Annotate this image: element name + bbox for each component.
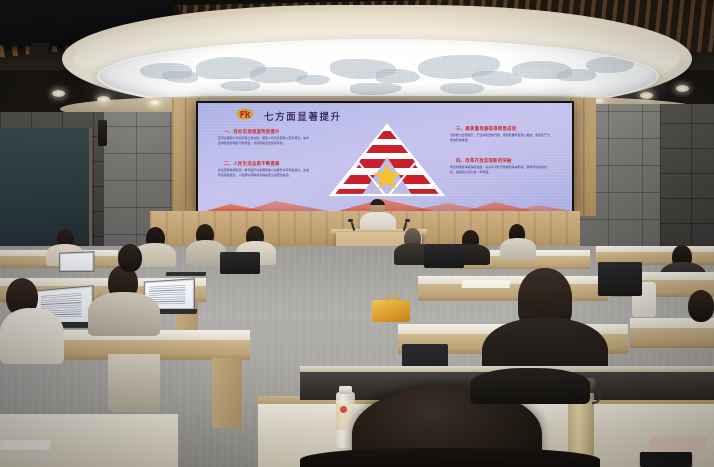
tote-bag-handle xyxy=(386,294,400,302)
paper-stack xyxy=(0,440,51,450)
chair xyxy=(220,252,260,274)
led-presentation-screen: 七方面显著提升 一、目标实现程度明显提升 经济总量和人均水平再上新台阶，居民人均… xyxy=(196,101,574,213)
slide-body-2: 就业形势保持稳定，教育医疗社会保障等公共服务水平明显提高，生态环境持续改善，人民… xyxy=(218,168,312,177)
audience-head xyxy=(688,290,714,322)
slide-body-4: 重点领域改革取得新进展，高水平对外开放格局基本形成，营商环境持续优化，发展动力活… xyxy=(450,165,550,174)
microphone-head-icon xyxy=(348,219,353,222)
lecture-hall-photo: 七方面显著提升 一、目标实现程度明显提升 经济总量和人均水平再上新台阶，居民人均… xyxy=(0,0,714,467)
laptop-screen xyxy=(59,251,95,272)
laptop-display xyxy=(61,253,93,270)
slide-content: 七方面显著提升 一、目标实现程度明显提升 经济总量和人均水平再上新台阶，居民人均… xyxy=(198,103,572,211)
cpc-party-emblem-icon xyxy=(236,108,254,120)
slide-heading-3: 三、高质量发展取得明显成效 xyxy=(456,126,516,132)
foreground-person-shoulder xyxy=(300,448,600,467)
slide-heading-4: 四、改革开放实现新的突破 xyxy=(456,158,512,164)
downlight-icon xyxy=(52,90,65,97)
chair xyxy=(424,244,464,268)
wall-speaker-icon xyxy=(98,120,107,146)
downlight-icon xyxy=(148,99,161,106)
paper-stack xyxy=(461,280,510,288)
foreground-person-2 xyxy=(470,368,590,404)
bottle-label-red-mark xyxy=(340,406,347,413)
slide-title: 七方面显著提升 xyxy=(264,109,342,123)
chair xyxy=(598,262,642,296)
downlight-icon xyxy=(640,92,653,99)
audience-torso xyxy=(500,238,536,260)
smartphone xyxy=(640,452,692,467)
downlight-icon xyxy=(676,85,689,92)
chair xyxy=(108,354,160,412)
desk-front-front-right2 xyxy=(630,328,714,348)
water-bottle-cap xyxy=(339,386,352,394)
desk-leg xyxy=(212,358,242,428)
paper-stack xyxy=(649,436,707,450)
laptop-keyboard xyxy=(166,272,207,276)
slide-body-1: 经济总量和人均水平再上新台阶，居民人均可支配收入稳步增长，城乡区域发展协调性不断… xyxy=(218,136,312,145)
audience-torso xyxy=(0,308,64,364)
slide-heading-2: 二、人民生活品质不断提高 xyxy=(224,161,280,167)
microphone-head-icon xyxy=(405,219,410,222)
projector-mount xyxy=(28,43,49,55)
audience-head xyxy=(118,244,142,272)
slide-body-3: 创新能力显著提升，产业体系加快升级，绿色低碳转型深入推进，新质生产力加快形成发展… xyxy=(450,133,550,142)
audience-torso xyxy=(88,292,160,336)
dark-glass-door xyxy=(0,128,92,246)
downlight-icon xyxy=(97,96,110,103)
yellow-tote-bag xyxy=(372,300,410,322)
slide-heading-1: 一、目标实现程度明显提升 xyxy=(224,129,280,135)
desk-front-mid-right xyxy=(418,284,608,301)
